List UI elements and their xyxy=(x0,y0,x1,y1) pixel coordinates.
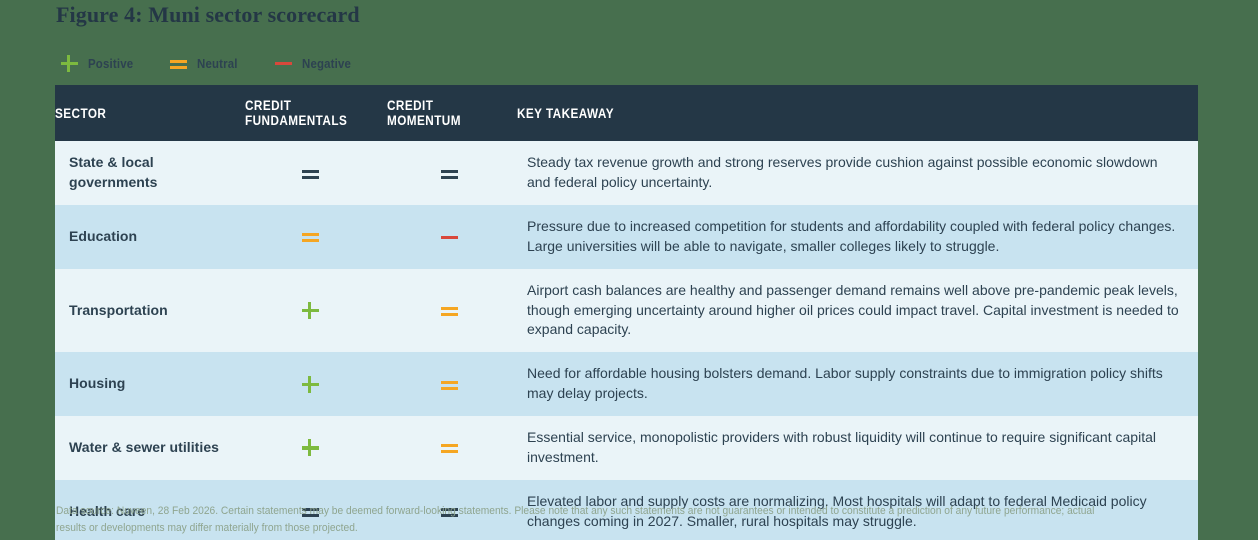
table-header-row: SECTOR CREDITFUNDAMENTALS CREDITMOMENTUM… xyxy=(55,85,1198,141)
column-header-credit-fundamentals-line1: CREDIT xyxy=(245,98,291,113)
column-header-key-takeaway-label: KEY TAKEAWAY xyxy=(517,106,614,121)
table-row: Transportation Airport cash balances are… xyxy=(55,269,1198,353)
column-header-sector: SECTOR xyxy=(55,85,245,141)
cell-key-takeaway: Airport cash balances are healthy and pa… xyxy=(517,269,1198,353)
table-body: State & local governments Steady tax rev… xyxy=(55,141,1198,540)
table-row: State & local governments Steady tax rev… xyxy=(55,141,1198,205)
column-header-credit-fundamentals-line2: FUNDAMENTALS xyxy=(245,113,347,128)
cell-credit-fundamentals xyxy=(245,269,387,353)
legend-label-neutral: Neutral xyxy=(197,56,238,71)
equals-icon xyxy=(440,301,459,320)
legend-item-positive: Positive xyxy=(60,53,139,73)
column-header-credit-momentum-line1: CREDIT xyxy=(387,98,433,113)
plus-icon xyxy=(60,54,79,73)
table-row: Housing Need for affordable housing bols… xyxy=(55,352,1198,416)
cell-sector: Water & sewer utilities xyxy=(55,416,245,480)
cell-key-takeaway: Essential service, monopolistic provider… xyxy=(517,416,1198,480)
footnote: Data source: Nuveen, 28 Feb 2026. Certai… xyxy=(56,503,1122,537)
cell-credit-momentum xyxy=(387,416,517,480)
minus-icon xyxy=(440,227,459,246)
cell-sector: Housing xyxy=(55,352,245,416)
legend-label-negative: Negative xyxy=(302,56,351,71)
cell-credit-momentum xyxy=(387,352,517,416)
cell-sector: Transportation xyxy=(55,269,245,353)
legend-item-neutral: Neutral xyxy=(169,53,243,73)
equals-icon xyxy=(440,438,459,457)
cell-key-takeaway: Steady tax revenue growth and strong res… xyxy=(517,141,1198,205)
legend-label-positive: Positive xyxy=(88,56,133,71)
equals-icon xyxy=(301,227,320,246)
cell-credit-fundamentals xyxy=(245,141,387,205)
cell-key-takeaway: Need for affordable housing bolsters dem… xyxy=(517,352,1198,416)
plus-icon xyxy=(301,438,320,457)
page-title: Figure 4: Muni sector scorecard xyxy=(56,2,360,28)
column-header-credit-momentum-line2: MOMENTUM xyxy=(387,113,461,128)
table-row: Education Pressure due to increased comp… xyxy=(55,205,1198,269)
table-header: SECTOR CREDITFUNDAMENTALS CREDITMOMENTUM… xyxy=(55,85,1198,141)
cell-credit-fundamentals xyxy=(245,352,387,416)
cell-sector: State & local governments xyxy=(55,141,245,205)
cell-credit-fundamentals xyxy=(245,205,387,269)
figure-scorecard-page: Figure 4: Muni sector scorecard Positive… xyxy=(0,0,1258,540)
cell-credit-momentum xyxy=(387,269,517,353)
cell-sector: Education xyxy=(55,205,245,269)
equals-dark-icon xyxy=(301,164,320,183)
plus-icon xyxy=(301,301,320,320)
cell-credit-momentum xyxy=(387,141,517,205)
legend: Positive Neutral Negative xyxy=(60,53,357,73)
table-row: Water & sewer utilities Essential servic… xyxy=(55,416,1198,480)
equals-icon xyxy=(169,54,188,73)
column-header-key-takeaway: KEY TAKEAWAY xyxy=(517,85,1198,141)
equals-icon xyxy=(440,375,459,394)
column-header-sector-label: SECTOR xyxy=(55,106,106,121)
cell-key-takeaway: Pressure due to increased competition fo… xyxy=(517,205,1198,269)
legend-item-negative: Negative xyxy=(274,53,358,73)
cell-credit-fundamentals xyxy=(245,416,387,480)
minus-icon xyxy=(274,54,293,73)
column-header-credit-fundamentals: CREDITFUNDAMENTALS xyxy=(245,85,387,141)
column-header-credit-momentum: CREDITMOMENTUM xyxy=(387,85,517,141)
plus-icon xyxy=(301,375,320,394)
equals-dark-icon xyxy=(440,164,459,183)
cell-credit-momentum xyxy=(387,205,517,269)
scorecard-table: SECTOR CREDITFUNDAMENTALS CREDITMOMENTUM… xyxy=(55,85,1198,540)
